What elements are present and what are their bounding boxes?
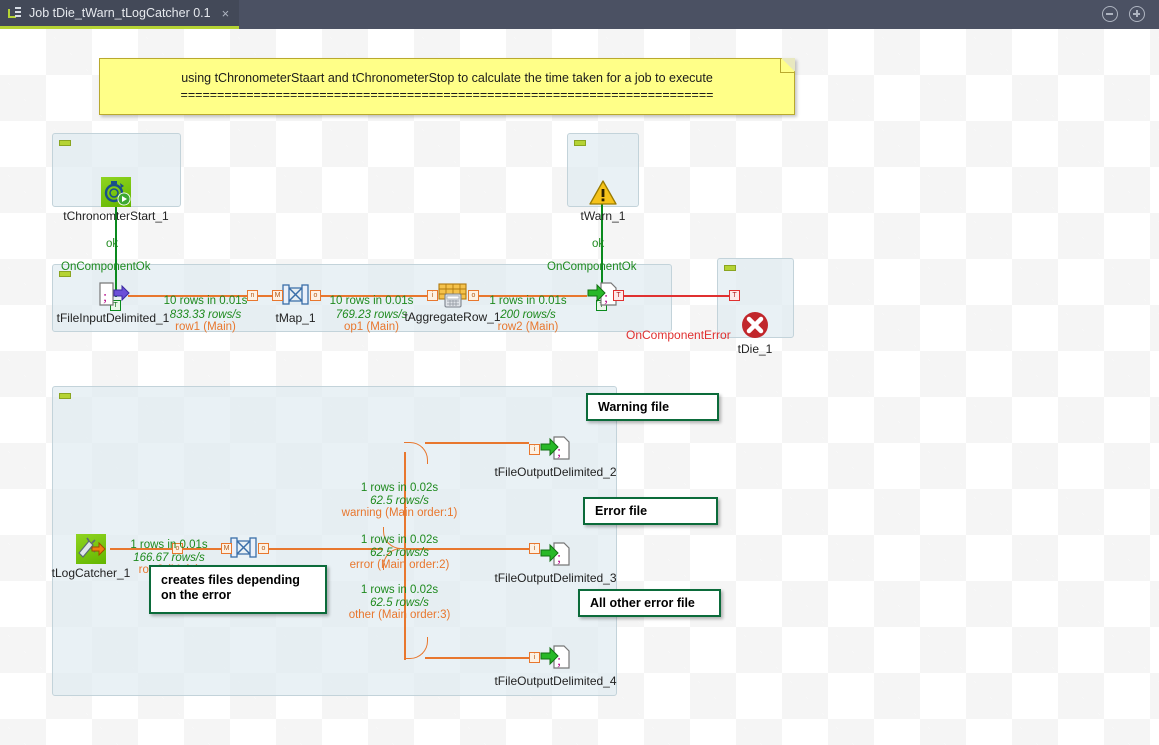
component-tchronometerstart[interactable]: tChronomterStart_1	[101, 177, 131, 207]
sticky-note[interactable]: using tChronometerStaart and tChronomete…	[99, 58, 795, 115]
component-twarn[interactable]: tWarn_1	[588, 177, 618, 207]
annotation-creates-files-line-2: on the error	[161, 588, 315, 603]
collapse-chip-icon[interactable]	[724, 265, 736, 271]
trigger-label-oncomponentok-chrono: OnComponentOk	[61, 261, 151, 273]
editor-tab-job[interactable]: Job tDie_tWarn_tLogCatcher 0.1 ×	[0, 0, 239, 29]
component-tmap-2[interactable]: tMap_2	[229, 534, 258, 562]
collapse-chip-icon[interactable]	[574, 140, 586, 146]
flow-handle-error-in[interactable]: i	[529, 543, 540, 554]
trigger-handle-tdie-in[interactable]: T	[729, 290, 740, 301]
annotation-error-file-label: Error file	[595, 504, 647, 519]
flow-handle-warning-in[interactable]: i	[529, 444, 540, 455]
note-line-2: ========================================…	[100, 87, 794, 104]
flow-handle-tmap2-in[interactable]: M	[221, 543, 232, 554]
log-catcher-icon	[76, 534, 106, 564]
annotation-all-other-error-file[interactable]: All other error file	[578, 589, 721, 617]
link-name-warning: warning (Main order:1)	[336, 507, 463, 520]
annotation-warning-file[interactable]: Warning file	[586, 393, 719, 421]
component-label-tfileoutputdelimited-2: tFileOutputDelimited_2	[494, 465, 616, 479]
link-rows-error: 1 rows in 0.02s	[336, 534, 463, 547]
file-output-icon: ;	[540, 541, 571, 574]
warning-triangle-icon	[588, 177, 618, 212]
job-icon	[8, 7, 22, 20]
collapse-chip-icon[interactable]	[59, 140, 71, 146]
flow-wire-warning[interactable]	[425, 442, 529, 444]
link-name-error: error (Main order:2)	[336, 559, 463, 572]
trigger-label-oncomponentok-warn: OnComponentOk	[547, 261, 637, 273]
die-error-circle-icon	[740, 310, 770, 345]
component-label-twarn: tWarn_1	[581, 209, 626, 223]
trigger-label-oncomponenterror: OnComponentError	[626, 328, 731, 342]
link-name-row2: row2 (Main)	[452, 321, 604, 334]
stopwatch-play-icon	[101, 177, 131, 207]
trigger-handle-error-out[interactable]: T	[613, 290, 624, 301]
link-rows-row1: 10 rows in 0.01s	[119, 295, 292, 308]
link-rows-row2: 1 rows in 0.01s	[452, 295, 604, 308]
close-icon[interactable]: ×	[222, 6, 230, 21]
annotation-warning-file-label: Warning file	[598, 400, 669, 415]
component-tfileoutputdelimited-4[interactable]: ; tFileOutputDelimited_4	[540, 644, 571, 672]
note-text: using tChronometerStaart and tChronomete…	[100, 70, 794, 104]
link-rows-row3: 1 rows in 0.01s	[109, 539, 229, 552]
component-label-tchronometerstart: tChronomterStart_1	[63, 209, 168, 223]
collapse-chip-icon[interactable]	[59, 393, 71, 399]
flow-wire-other[interactable]	[425, 657, 529, 659]
annotation-all-other-error-file-label: All other error file	[590, 596, 695, 611]
file-output-icon: ;	[540, 644, 571, 677]
window-titlebar: Job tDie_tWarn_tLogCatcher 0.1 ×	[0, 0, 1159, 29]
annotation-creates-files[interactable]: creates files depending on the error	[149, 565, 327, 614]
minimize-circle-icon[interactable]	[1102, 6, 1118, 22]
job-designer-canvas[interactable]: using tChronometerStaart and tChronomete…	[0, 29, 1159, 745]
component-label-tfileoutputdelimited-4: tFileOutputDelimited_4	[494, 674, 616, 688]
component-tlogcatcher-1[interactable]: tLogCatcher_1	[76, 534, 106, 564]
link-rows-warning: 1 rows in 0.02s	[336, 482, 463, 495]
note-line-1: using tChronometerStaart and tChronomete…	[100, 70, 794, 87]
svg-text:;: ;	[103, 289, 107, 305]
trigger-label-ok-warn: ok	[592, 238, 604, 250]
tmap-icon	[229, 534, 258, 567]
flow-handle-tmap2-out[interactable]: o	[258, 543, 269, 554]
flow-handle-tmap1-in[interactable]: M	[272, 290, 283, 301]
trigger-label-ok-chrono: ok	[106, 238, 118, 250]
link-rows-op1: 10 rows in 0.01s	[295, 295, 448, 308]
link-name-row1: row1 (Main)	[119, 321, 292, 334]
component-tdie-1[interactable]: tDie_1	[740, 310, 770, 340]
file-output-icon: ;	[540, 435, 571, 468]
trigger-wire-oncomponenterror[interactable]	[618, 295, 729, 297]
component-label-tfileoutputdelimited-3: tFileOutputDelimited_3	[494, 571, 616, 585]
annotation-creates-files-line-1: creates files depending	[161, 573, 315, 588]
flow-handle-aggregate-in[interactable]: i	[427, 290, 438, 301]
link-rows-other: 1 rows in 0.02s	[336, 584, 463, 597]
editor-tab-label: Job tDie_tWarn_tLogCatcher 0.1	[29, 6, 211, 20]
maximize-circle-icon[interactable]	[1129, 6, 1145, 22]
flow-handle-other-in[interactable]: i	[529, 652, 540, 663]
link-name-other: other (Main order:3)	[336, 609, 463, 622]
annotation-error-file[interactable]: Error file	[583, 497, 718, 525]
component-tfileoutputdelimited-2[interactable]: ; tFileOutputDelimited_2	[540, 435, 571, 463]
component-tfileoutputdelimited-3[interactable]: ; tFileOutputDelimited_3	[540, 541, 571, 569]
component-label-tdie-1: tDie_1	[738, 342, 773, 356]
